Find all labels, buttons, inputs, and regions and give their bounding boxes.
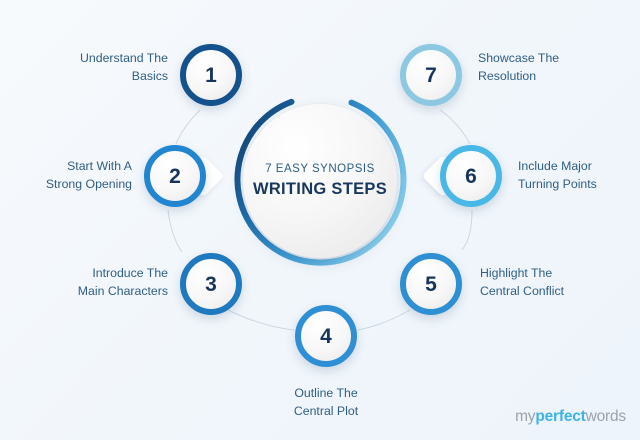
step-node-3[interactable]: 3 — [180, 253, 242, 315]
logo-part-my: my — [515, 408, 535, 425]
central-hub: 7 EASY SYNOPSIS WRITING STEPS — [243, 104, 397, 258]
step-node-5[interactable]: 5 — [400, 253, 462, 315]
infographic-canvas: 7 EASY SYNOPSIS WRITING STEPS 1Understan… — [0, 0, 640, 440]
step-ring-3: 3 — [180, 253, 242, 315]
step-node-2[interactable]: 2 — [144, 145, 206, 207]
step-label-6: Include Major Turning Points — [518, 158, 638, 194]
step-number-2: 2 — [169, 166, 181, 187]
logo-part-words: words — [586, 408, 626, 425]
step-label-5: Highlight The Central Conflict — [480, 265, 620, 301]
step-ring-5: 5 — [400, 253, 462, 315]
step-label-2: Start With A Strong Opening — [10, 158, 132, 194]
step-number-4: 4 — [320, 326, 332, 347]
step-number-3: 3 — [205, 274, 217, 295]
connector-1-2 — [176, 110, 200, 144]
connector-6-7 — [440, 110, 470, 144]
step-number-1: 1 — [205, 65, 217, 86]
connector-2-3 — [168, 210, 182, 252]
logo-part-perfect: perfect — [535, 408, 585, 425]
step-ring-2: 2 — [144, 145, 206, 207]
step-ring-1: 1 — [180, 44, 242, 106]
step-node-7[interactable]: 7 — [400, 44, 462, 106]
step-label-3: Introduce The Main Characters — [34, 265, 168, 301]
step-node-4[interactable]: 4 — [295, 305, 357, 367]
step-number-6: 6 — [465, 166, 477, 187]
step-label-1: Understand The Basics — [28, 50, 168, 86]
hub-text: 7 EASY SYNOPSIS WRITING STEPS — [243, 104, 397, 258]
step-ring-7: 7 — [400, 44, 462, 106]
step-number-7: 7 — [425, 65, 437, 86]
step-number-5: 5 — [425, 274, 437, 295]
brand-logo: myperfectwords — [515, 408, 626, 426]
connector-5-6 — [462, 210, 472, 250]
step-node-6[interactable]: 6 — [440, 145, 502, 207]
step-ring-4: 4 — [295, 305, 357, 367]
step-label-7: Showcase The Resolution — [478, 50, 618, 86]
step-node-1[interactable]: 1 — [180, 44, 242, 106]
hub-subtitle: 7 EASY SYNOPSIS — [265, 163, 375, 176]
step-label-4: Outline The Central Plot — [266, 385, 386, 421]
hub-title: WRITING STEPS — [253, 180, 387, 199]
step-ring-6: 6 — [440, 145, 502, 207]
